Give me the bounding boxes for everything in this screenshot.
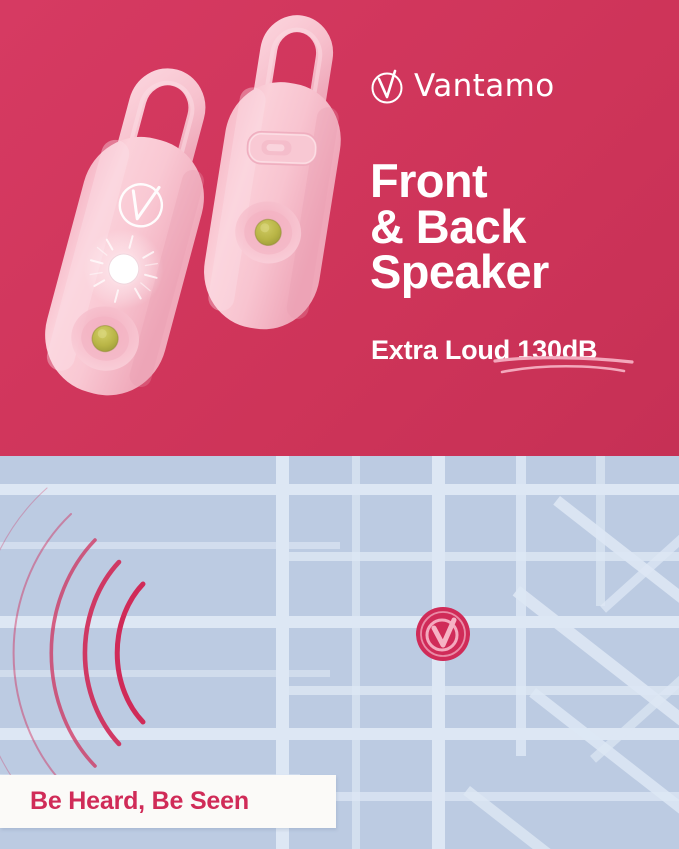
headline-line-2: & Back	[370, 204, 670, 250]
product-marketing-poster: Vantamo Front & Back Speaker Extra Loud …	[0, 0, 679, 849]
subheadline-underline	[492, 352, 642, 383]
circled-v-check-icon	[368, 66, 408, 106]
brand-name: Vantamo	[414, 71, 555, 102]
brand-logo: Vantamo	[368, 66, 555, 106]
vantamo-v-badge-icon	[416, 607, 470, 661]
headline-line-3: Speaker	[370, 249, 670, 295]
tagline-text: Be Heard, Be Seen	[30, 787, 249, 816]
back-speaker-device	[196, 8, 356, 358]
headline-line-1: Front	[370, 158, 670, 204]
headline: Front & Back Speaker	[370, 158, 670, 295]
front-speaker-device	[44, 52, 219, 432]
hero-panel: Vantamo Front & Back Speaker Extra Loud …	[0, 0, 679, 456]
tagline-banner: Be Heard, Be Seen	[0, 775, 336, 828]
